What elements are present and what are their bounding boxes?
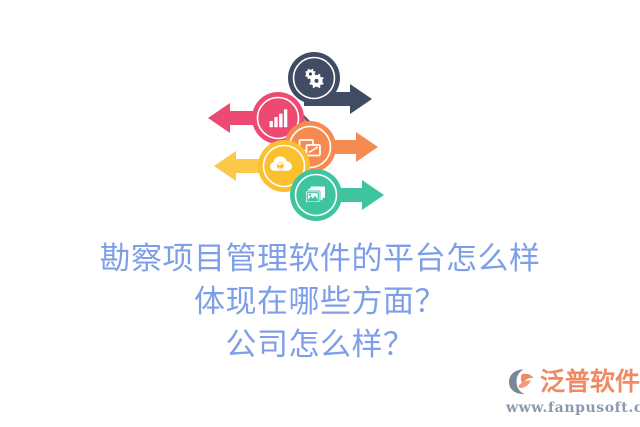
node-gallery[interactable]	[290, 169, 342, 221]
brand-name: 泛普软件	[540, 368, 640, 396]
page-canvas: 勘察项目管理软件的平台怎么样 体现在哪些方面？ 公司怎么样？ 泛普软件 www.…	[0, 0, 640, 427]
brand-lockup: 泛普软件	[506, 366, 634, 398]
fanpu-logo-icon	[506, 367, 538, 397]
headline-line-3: 公司怎么样？	[0, 324, 640, 367]
node-settings[interactable]	[288, 52, 340, 104]
brand-url: www.fanpusoft.com	[506, 399, 634, 417]
headline-line-2: 体现在哪些方面？	[0, 281, 640, 324]
page-title: 勘察项目管理软件的平台怎么样 体现在哪些方面？ 公司怎么样？	[0, 238, 640, 367]
arrow-infographic	[200, 40, 400, 240]
headline-line-1: 勘察项目管理软件的平台怎么样	[0, 238, 640, 281]
brand-watermark: 泛普软件 www.fanpusoft.com	[506, 366, 634, 418]
